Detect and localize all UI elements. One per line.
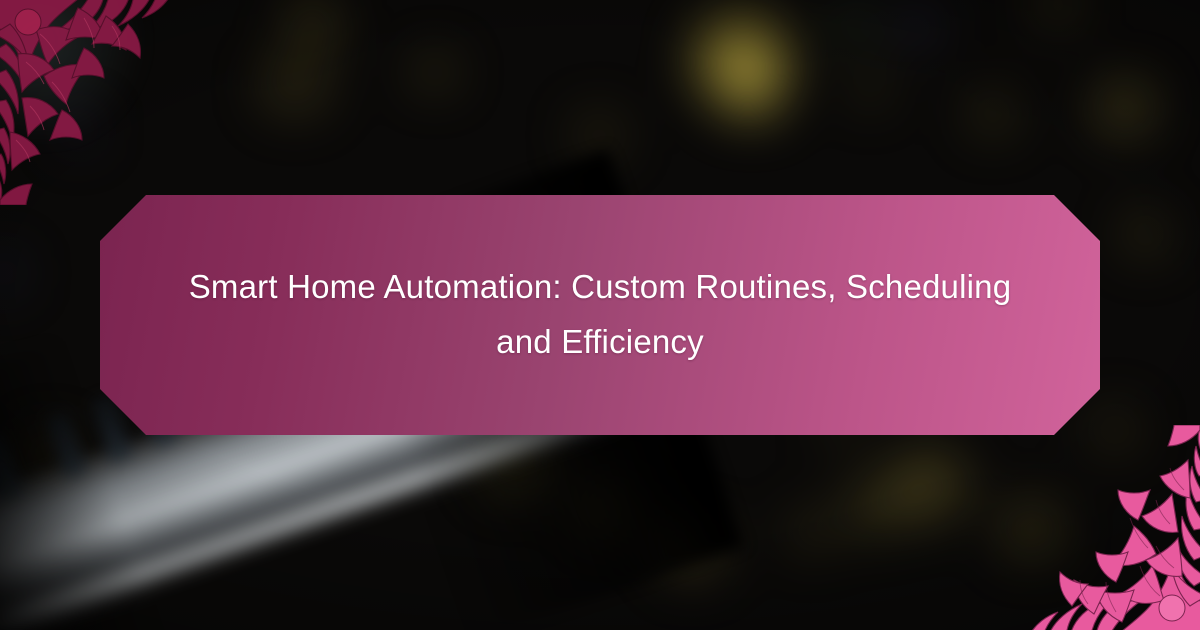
ornament-bottom-right-icon	[993, 425, 1200, 630]
banner-image-canvas: Smart Home Automation: Custom Routines, …	[0, 0, 1200, 630]
ornament-top-left-icon	[0, 0, 207, 205]
page-title: Smart Home Automation: Custom Routines, …	[172, 260, 1028, 370]
title-banner: Smart Home Automation: Custom Routines, …	[100, 195, 1100, 435]
